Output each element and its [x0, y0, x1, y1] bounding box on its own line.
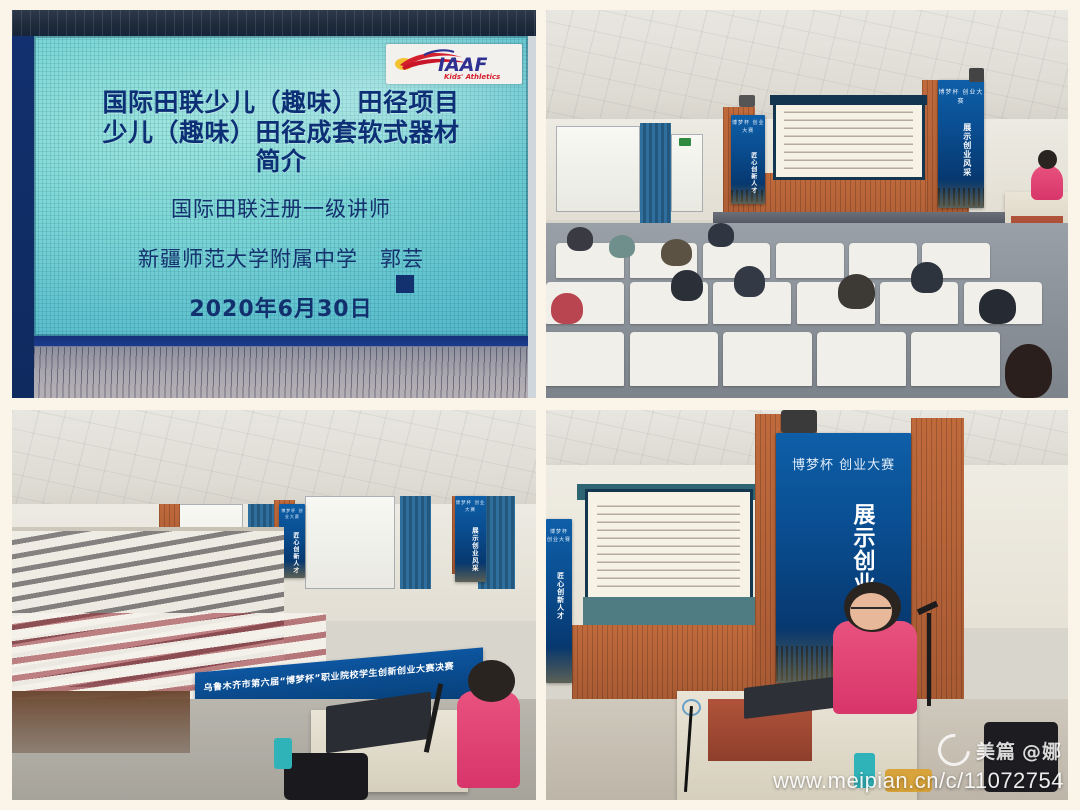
lecture-hall-photo-top-right: 博梦杯 创业大赛 匠心创新人才 博梦杯 创业大赛 展示创业风采 [546, 10, 1068, 398]
glasses-icon [851, 607, 890, 609]
attendee [979, 289, 1016, 324]
meipian-handle: @娜 [1022, 737, 1062, 764]
seat [817, 332, 906, 386]
slide-subtitle-lecturer: 国际田联注册一级讲师 [171, 193, 391, 223]
screen-lower-panel [34, 336, 528, 398]
seat [723, 332, 812, 386]
attendee [661, 239, 692, 266]
wall-strip-left [12, 36, 34, 398]
seat [630, 332, 719, 386]
meipian-watermark: 美篇 @娜 [938, 734, 1062, 766]
speaker-box-icon [969, 68, 985, 82]
speaker-body [833, 621, 917, 715]
collage-cell-bottom-left: 博梦杯 创业大赛 匠心创新人才 博梦杯 创业大赛 展示创业风采 乌鲁木齐市第六届… [12, 410, 536, 800]
photo-collage: IAAF Kids' Athletics 国际田联少儿（趣味）田径项目 少儿（趣… [0, 0, 1080, 810]
speaker-body [457, 691, 520, 789]
slide-subtitle-affiliation-text: 新疆师范大学附属中学 郭芸 [138, 247, 424, 271]
lecture-hall-photo-bottom-right: 博梦杯 创业大赛 展示创业风采 博梦杯 创业大赛 匠心创新人才 [546, 410, 1068, 800]
wood-column-right [911, 418, 963, 703]
collage-cell-top-left: IAAF Kids' Athletics 国际田联少儿（趣味）田径项目 少儿（趣… [12, 10, 536, 398]
attendee [734, 266, 765, 297]
banner-left-main-text: 匠心创新人才 [553, 572, 566, 620]
svg-text:Kids' Athletics: Kids' Athletics [444, 73, 500, 81]
banner-right-main-text: 展示创业风采 [949, 123, 972, 177]
projection-screen [776, 103, 922, 177]
attendee [671, 270, 702, 301]
window [305, 496, 394, 590]
microphone-stand [927, 613, 931, 707]
water-bottle [274, 738, 292, 769]
slide-subtitle-affiliation: 新疆师范大学附属中学 郭芸 [138, 243, 424, 273]
iaaf-kids-athletics-logo: IAAF Kids' Athletics [386, 44, 522, 84]
banner-left-top-text: 博梦杯 创业大赛 [279, 508, 305, 520]
lecture-hall-photo-bottom-left: 博梦杯 创业大赛 匠心创新人才 博梦杯 创业大赛 展示创业风采 乌鲁木齐市第六届… [12, 410, 536, 800]
presentation-slide-photo: IAAF Kids' Athletics 国际田联少儿（趣味）田径项目 少儿（趣… [12, 10, 536, 398]
exit-sign-icon [679, 138, 690, 146]
slide-content: IAAF Kids' Athletics 国际田联少儿（趣味）田径项目 少儿（趣… [34, 36, 528, 336]
projection-screen [588, 492, 750, 597]
seat [546, 332, 624, 386]
banner-left: 博梦杯 创业大赛 匠心创新人才 [731, 115, 765, 204]
banner-left-main-text: 匠心创新人才 [740, 152, 757, 194]
attendee [911, 262, 942, 293]
banner-right-top-text: 博梦杯 创业大赛 [455, 501, 486, 515]
attendee [567, 227, 593, 250]
banner-left-edge: 博梦杯 创业大赛 匠心创新人才 [546, 519, 572, 683]
slide-title-line2: 少儿（趣味）田径成套软式器材 [44, 118, 518, 148]
banner-right: 博梦杯 创业大赛 展示创业风采 [938, 80, 985, 208]
seat [776, 243, 844, 278]
curtain [400, 496, 431, 590]
attendee [551, 293, 582, 324]
attendee [838, 274, 875, 309]
meipian-logo-icon [931, 727, 976, 772]
banner-crowd-silhouette [938, 188, 985, 206]
curtain [640, 123, 671, 224]
attendee [708, 223, 734, 246]
seat [911, 332, 1000, 386]
slide-title: 国际田联少儿（趣味）田径项目 少儿（趣味）田径成套软式器材 简介 [44, 88, 518, 177]
backpack [284, 753, 368, 800]
attendee [609, 235, 635, 258]
collage-cell-top-right: 博梦杯 创业大赛 匠心创新人才 博梦杯 创业大赛 展示创业风采 [546, 10, 1068, 398]
meipian-url: www.meipian.cn/c/11072754 [773, 768, 1064, 794]
speaker-box-icon [739, 95, 755, 107]
slide-date: 2020年6月30日 [189, 291, 372, 323]
banner-left-top-text: 博梦杯 创业大赛 [731, 120, 765, 135]
banner-left-main-text: 匠心创新人才 [286, 532, 299, 574]
ceiling-strip [12, 10, 536, 36]
banner-right: 博梦杯 创业大赛 展示创业风采 [455, 496, 486, 582]
meipian-brand: 美篇 [976, 737, 1016, 764]
doorway [671, 134, 702, 212]
desk-row [12, 691, 190, 753]
collage-cell-bottom-right: 博梦杯 创业大赛 展示创业风采 博梦杯 创业大赛 匠心创新人才 [546, 410, 1068, 800]
banner-left-top-text: 博梦杯 创业大赛 [546, 529, 572, 544]
banner-main-top-text: 博梦杯 创业大赛 [776, 456, 912, 476]
banner-right-main-text: 展示创业风采 [463, 527, 479, 572]
speaker-head [468, 660, 515, 703]
banner-right-top-text: 博梦杯 创业大赛 [938, 88, 985, 106]
slide-title-line3: 简介 [44, 147, 518, 177]
attendee [1005, 344, 1052, 398]
cursor-block [396, 275, 414, 293]
banner-crowd-silhouette [731, 190, 765, 202]
slide-title-line1: 国际田联少儿（趣味）田径项目 [44, 88, 518, 118]
iaaf-logo-svg: IAAF Kids' Athletics [390, 47, 518, 81]
seat [849, 243, 917, 278]
speaker-box-icon [781, 410, 818, 433]
window [556, 126, 640, 211]
screen-top-frame [770, 95, 927, 105]
speaker-body [1031, 165, 1062, 200]
speaker-head [1038, 150, 1057, 169]
